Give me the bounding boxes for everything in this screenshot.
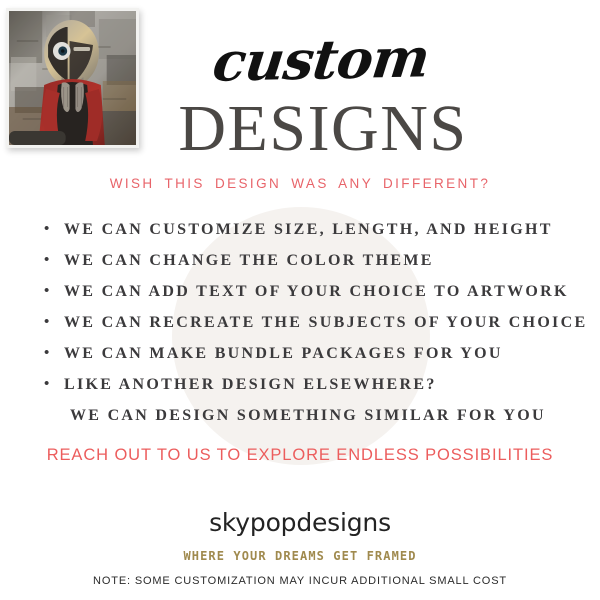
brand-slogan: WHERE YOUR DREAMS GET FRAMED xyxy=(0,549,600,563)
feature-list: WE CAN CUSTOMIZE SIZE, LENGTH, AND HEIGH… xyxy=(44,214,584,431)
list-item-continuation: WE CAN DESIGN SOMETHING SIMILAR FOR YOU xyxy=(44,400,584,431)
promotional-poster: custom DESIGNS WISH THIS DESIGN WAS ANY … xyxy=(0,0,600,600)
list-item: WE CAN RECREATE THE SUBJECTS OF YOUR CHO… xyxy=(44,307,584,338)
tagline-question: WISH THIS DESIGN WAS ANY DIFFERENT? xyxy=(0,176,600,191)
call-to-action-text: REACH OUT TO US TO EXPLORE ENDLESS POSSI… xyxy=(0,446,600,465)
list-item: WE CAN ADD TEXT OF YOUR CHOICE TO ARTWOR… xyxy=(44,276,584,307)
artwork-canvas xyxy=(9,11,136,145)
brand-name: skypopdesigns xyxy=(0,508,600,537)
framed-artwork xyxy=(6,8,139,148)
list-item: WE CAN CUSTOMIZE SIZE, LENGTH, AND HEIGH… xyxy=(44,214,584,245)
list-item: LIKE ANOTHER DESIGN ELSEWHERE? xyxy=(44,369,584,400)
footnote-disclaimer: NOTE: SOME CUSTOMIZATION MAY INCUR ADDIT… xyxy=(0,575,600,587)
list-item: WE CAN CHANGE THE COLOR THEME xyxy=(44,245,584,276)
list-item: WE CAN MAKE BUNDLE PACKAGES FOR YOU xyxy=(44,338,584,369)
abstract-portrait-artwork xyxy=(9,11,136,145)
